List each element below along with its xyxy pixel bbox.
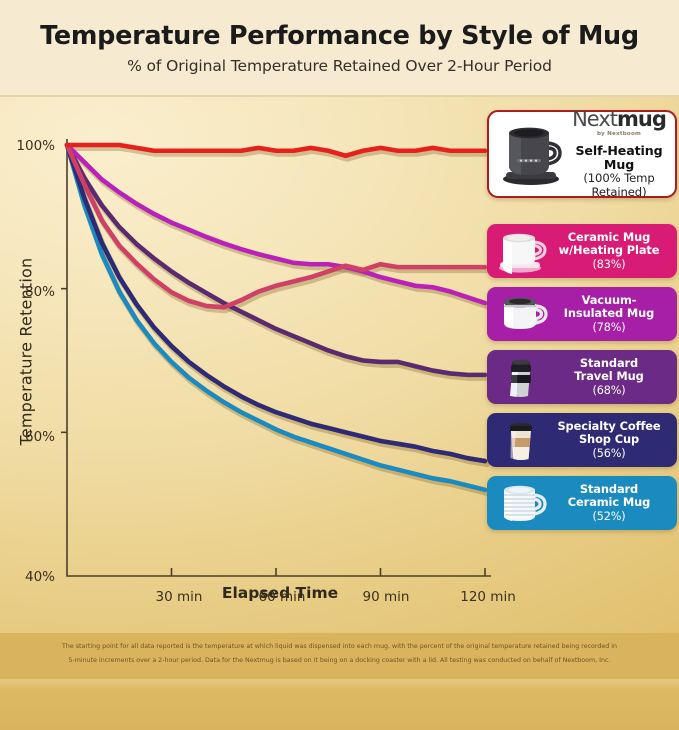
- header: Temperature Performance by Style of Mug …: [0, 0, 679, 96]
- legend-nextmug-pct-1: (100% Temp: [569, 172, 669, 186]
- footnote: The starting point for all data reported…: [0, 633, 679, 679]
- page-title: Temperature Performance by Style of Mug: [0, 21, 679, 51]
- y-tick-100: 100%: [0, 138, 55, 154]
- chart-legend: Nextmug by Nextboom Self-Heating Mug (10…: [487, 110, 677, 539]
- legend-label-line2: Insulated Mug: [564, 306, 654, 320]
- legend-standard-ceramic-text: Standard Ceramic Mug (52%): [548, 483, 670, 523]
- x-tick-90: 90 min: [341, 589, 431, 605]
- y-tick-80: 80%: [0, 284, 55, 300]
- y-tick-60: 60%: [0, 429, 55, 445]
- legend-label-line2: Travel Mug: [574, 369, 643, 383]
- specialty-coffee-shop-cup-icon: [494, 417, 548, 463]
- legend-label-line2: w/Heating Plate: [559, 243, 660, 257]
- legend-specialty-coffee-text: Specialty Coffee Shop Cup (56%): [548, 420, 670, 460]
- legend-standard-travel-text: Standard Travel Mug (68%): [548, 357, 670, 397]
- legend-item-standard-travel[interactable]: Standard Travel Mug (68%): [487, 350, 677, 404]
- nextmug-brand: Nextmug: [569, 109, 669, 129]
- legend-vacuum-insulated-text: Vacuum- Insulated Mug (78%): [548, 294, 670, 334]
- legend-item-nextmug[interactable]: Nextmug by Nextboom Self-Heating Mug (10…: [487, 110, 677, 198]
- footnote-line-2: 5-minute increments over a 2-hour period…: [0, 654, 679, 668]
- legend-pct: (83%): [548, 258, 670, 271]
- legend-nextmug-text: Nextmug by Nextboom Self-Heating Mug (10…: [569, 109, 669, 199]
- chart-line-specialty-coffee-shop-cup: [67, 145, 485, 461]
- legend-pct: (78%): [548, 321, 670, 334]
- footnote-line-1: The starting point for all data reported…: [0, 640, 679, 654]
- page-subtitle: % of Original Temperature Retained Over …: [0, 57, 679, 75]
- x-tick-120: 120 min: [443, 589, 533, 605]
- y-axis-label: Temperature Retention: [17, 252, 36, 452]
- y-tick-40: 40%: [0, 569, 55, 585]
- legend-pct: (52%): [548, 510, 670, 523]
- x-tick-60: 60 min: [237, 589, 327, 605]
- legend-label-line1: Standard: [580, 482, 638, 496]
- chart-line-vacuum-insulated-mug: [67, 145, 485, 303]
- legend-item-standard-ceramic[interactable]: Standard Ceramic Mug (52%): [487, 476, 677, 530]
- legend-nextmug-label: Self-Heating Mug: [569, 144, 669, 172]
- legend-nextmug-pct-2: Retained): [569, 186, 669, 200]
- legend-pct: (68%): [548, 384, 670, 397]
- legend-label-line1: Ceramic Mug: [568, 230, 650, 244]
- legend-label-line1: Standard: [580, 356, 638, 370]
- self-heating-mug-icon: [495, 119, 569, 189]
- ceramic-mug-heating-plate-icon: [494, 228, 548, 274]
- vacuum-insulated-mug-icon: [494, 291, 548, 337]
- x-tick-30: 30 min: [134, 589, 224, 605]
- legend-label-line2: Shop Cup: [579, 432, 639, 446]
- standard-travel-mug-icon: [494, 354, 548, 400]
- infographic-root: Temperature Performance by Style of Mug …: [0, 0, 679, 679]
- legend-label-line2: Ceramic Mug: [568, 495, 650, 509]
- legend-label-line1: Vacuum-: [582, 293, 637, 307]
- legend-item-vacuum-insulated[interactable]: Vacuum- Insulated Mug (78%): [487, 287, 677, 341]
- standard-ceramic-mug-icon: [494, 480, 548, 526]
- chart-line-ceramic-mug-w-heating-plate: [67, 145, 485, 307]
- legend-item-ceramic-heating-plate[interactable]: Ceramic Mug w/Heating Plate (83%): [487, 224, 677, 278]
- legend-item-specialty-coffee[interactable]: Specialty Coffee Shop Cup (56%): [487, 413, 677, 467]
- legend-label-line1: Specialty Coffee: [557, 419, 660, 433]
- legend-pct: (56%): [548, 447, 670, 460]
- legend-ceramic-heating-plate-text: Ceramic Mug w/Heating Plate (83%): [548, 231, 670, 271]
